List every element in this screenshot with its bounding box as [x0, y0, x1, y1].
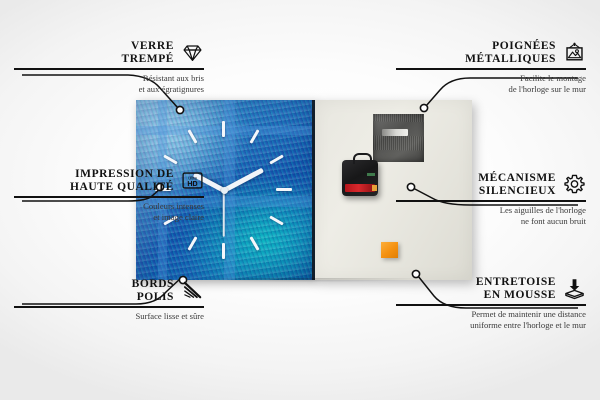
feature-header: IMPRESSION DE HAUTE QUALITÉ ultra HD	[14, 168, 204, 196]
clock-tick	[276, 188, 292, 191]
feature-title-line2: POLIS	[132, 291, 174, 304]
feature-title-line1: VERRE	[122, 40, 175, 53]
feature-header: BORDS POLIS	[14, 278, 204, 306]
battery	[345, 184, 375, 192]
feature-desc: Facilite le montage de l'horloge sur le …	[396, 70, 586, 94]
feature-header: ENTRETOISE EN MOUSSE	[396, 276, 586, 304]
clock-tick	[222, 243, 225, 259]
feature-poignees-metalliques: POIGNÉES MÉTALLIQUES Facilite le montage…	[396, 40, 586, 94]
clock-center-cap	[221, 187, 228, 194]
feature-header: MÉCANISME SILENCIEUX	[396, 172, 586, 200]
feature-desc-line1: Couleurs intenses	[14, 201, 204, 211]
feature-title-line1: BORDS	[132, 278, 174, 291]
feature-desc-line1: Permet de maintenir une distance	[396, 309, 586, 319]
feature-title-line1: MÉCANISME	[478, 172, 556, 185]
clock-tick	[269, 154, 283, 164]
feature-title-line1: POIGNÉES	[465, 40, 556, 53]
foam-spacer-icon	[563, 277, 586, 300]
feature-desc: Résistant aux bris et aux égratignures	[14, 70, 204, 94]
ultra-hd-icon: ultra HD	[181, 169, 204, 192]
feature-desc-line2: et image claire	[14, 212, 204, 222]
promo-infographic: VERRE TREMPÉ Résistant aux bris et aux é…	[0, 0, 600, 400]
hanger-slot	[382, 129, 408, 136]
gear-icon	[563, 173, 586, 196]
picture-frame-hanger-icon	[563, 41, 586, 64]
feature-title-line2: MÉTALLIQUES	[465, 53, 556, 66]
clock-tick	[222, 121, 225, 137]
feature-desc: Couleurs intenses et image claire	[14, 198, 204, 222]
feature-title: IMPRESSION DE HAUTE QUALITÉ	[70, 168, 174, 193]
diamond-icon	[181, 41, 204, 64]
feature-title: MÉCANISME SILENCIEUX	[478, 172, 556, 197]
feature-impression-haute-qualite: IMPRESSION DE HAUTE QUALITÉ ultra HD Cou…	[14, 168, 204, 222]
feature-entretoise-en-mousse: ENTRETOISE EN MOUSSE Permet de maintenir…	[396, 276, 586, 330]
clock-second-hand	[223, 191, 225, 237]
feature-header: POIGNÉES MÉTALLIQUES	[396, 40, 586, 68]
battery-terminal	[372, 185, 377, 191]
feature-title-line1: IMPRESSION DE	[70, 168, 174, 181]
feature-desc-line1: Les aiguilles de l'horloge	[396, 205, 586, 215]
feature-header: VERRE TREMPÉ	[14, 40, 204, 68]
feature-mecanisme-silencieux: MÉCANISME SILENCIEUX Les aiguilles de l'…	[396, 172, 586, 226]
feature-desc-line1: Surface lisse et sûre	[14, 311, 204, 321]
feature-desc-line2: ne font aucun bruit	[396, 216, 586, 226]
feature-title: ENTRETOISE EN MOUSSE	[476, 276, 556, 301]
feature-desc: Surface lisse et sûre	[14, 308, 204, 322]
mechanism-hook	[353, 153, 372, 164]
feature-desc: Permet de maintenir une distance uniform…	[396, 306, 586, 330]
feature-title-line2: EN MOUSSE	[476, 289, 556, 302]
clock-tick	[269, 215, 283, 225]
foam-spacer	[381, 242, 398, 258]
feature-desc: Les aiguilles de l'horloge ne font aucun…	[396, 202, 586, 226]
polished-edges-icon	[181, 279, 204, 302]
feature-title-line1: ENTRETOISE	[476, 276, 556, 289]
feature-verre-trempe: VERRE TREMPÉ Résistant aux bris et aux é…	[14, 40, 204, 94]
feature-title-line2: HAUTE QUALITÉ	[70, 181, 174, 194]
mechanism-detail	[367, 173, 375, 176]
feature-title-line2: SILENCIEUX	[478, 185, 556, 198]
feature-desc-line1: Résistant aux bris	[14, 73, 204, 83]
feature-title: BORDS POLIS	[132, 278, 174, 303]
feature-title: POIGNÉES MÉTALLIQUES	[465, 40, 556, 65]
clock-tick	[249, 236, 259, 250]
feature-desc-line1: Facilite le montage	[396, 73, 586, 83]
clock-tick	[187, 236, 197, 250]
feature-desc-line2: de l'horloge sur le mur	[396, 84, 586, 94]
hanger-plate	[373, 114, 424, 162]
feature-bords-polis: BORDS POLIS Surface lisse et sûre	[14, 278, 204, 322]
feature-title: VERRE TREMPÉ	[122, 40, 175, 65]
feature-desc-line2: et aux égratignures	[14, 84, 204, 94]
svg-text:HD: HD	[187, 180, 197, 188]
clock-mechanism	[342, 160, 378, 196]
feature-desc-line2: uniforme entre l'horloge et le mur	[396, 320, 586, 330]
feature-title-line2: TREMPÉ	[122, 53, 175, 66]
